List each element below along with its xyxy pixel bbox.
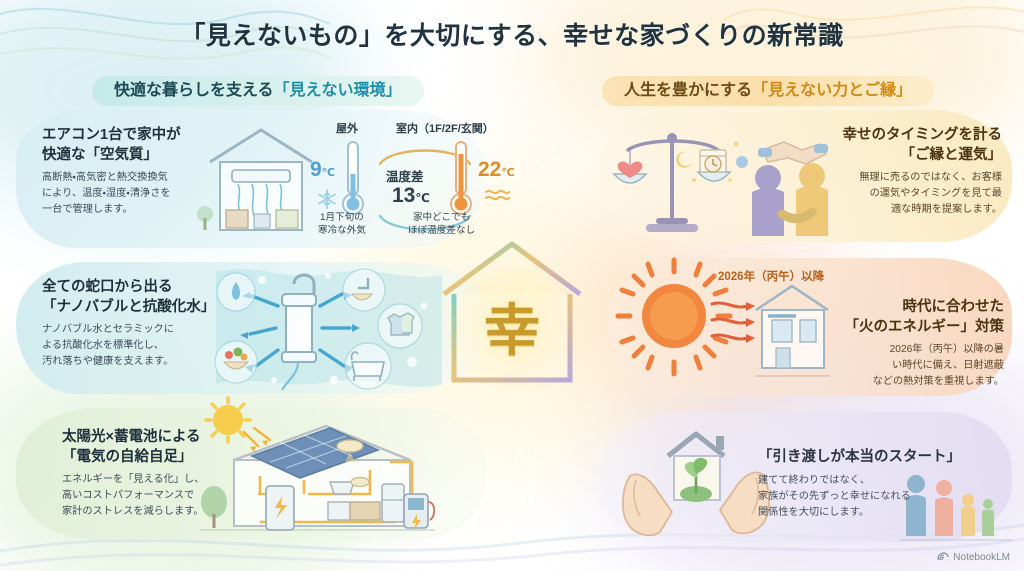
- outdoor-temp-value: 9: [310, 158, 322, 181]
- outdoor-caption: 1月下旬の 寒冷な外気: [318, 212, 366, 238]
- card-heat-heading-1: 時代に合わせた: [838, 298, 1004, 318]
- outdoor-temp-unit: ℃: [322, 167, 335, 179]
- indoor-temperature: 22℃: [478, 158, 515, 182]
- card-solar-body-2: 高いコストパフォーマンスで: [62, 488, 204, 503]
- indoor-temp-value: 22: [478, 158, 501, 181]
- card-air-quality-heading-2: 快適な「空気質」: [42, 146, 181, 166]
- card-handover-body-1: 建てて終わりではなく、: [758, 473, 980, 488]
- thermometer-hot-icon: [448, 140, 474, 218]
- diff-unit: ℃: [415, 191, 430, 205]
- card-water-body-1: ナノバブル水とセラミックに: [42, 322, 215, 337]
- section-pill-left: 快適な暮らしを支える「見えない環境」: [92, 76, 424, 106]
- card-water-body-2: よる抗酸化水を標準化し、: [42, 338, 215, 353]
- outdoor-label: 屋外: [336, 120, 358, 136]
- hands-sprout-icon: [612, 420, 780, 542]
- card-water-heading-2: 「ナノバブルと抗酸化水」: [42, 298, 215, 318]
- card-water-heading-1: 全ての蛇口から出る: [42, 278, 215, 298]
- card-water-text: 全ての蛇口から出る 「ナノバブルと抗酸化水」 ナノバブル水とセラミックに よる抗…: [42, 278, 215, 369]
- card-handover-body-2: 家族がその先ずっと幸せになれる: [758, 489, 980, 504]
- card-air-quality-body-3: 一台で管理します。: [42, 202, 181, 217]
- outdoor-temperature: 9℃: [310, 158, 335, 182]
- indoor-label: 室内（1F/2F/玄関）: [396, 120, 494, 136]
- section-pill-right: 人生を豊かにする「見えない力とご縁」: [602, 76, 934, 106]
- heat-waves-icon: [482, 188, 512, 206]
- notebooklm-watermark: NotebookLM: [937, 551, 1010, 563]
- card-heat-heading-2: 「火のエネルギー」対策: [838, 318, 1004, 338]
- section-pill-right-prefix: 人生を豊かにする: [624, 82, 752, 99]
- card-fortune-body-3: 適な時期を提案します。: [838, 202, 1002, 217]
- house-aircon-icon: [196, 118, 326, 243]
- card-fortune-body-2: の運気やタイミングを見て最: [838, 186, 1002, 201]
- card-solar-heading-2: 「電気の自給自足」: [62, 448, 204, 468]
- card-heat-body-3: などの熱対策を重視します。: [838, 374, 1004, 389]
- indoor-caption-2: ほぼ温度差なし: [408, 225, 475, 238]
- indoor-caption: 家中どこでも ほぼ温度差なし: [408, 212, 475, 238]
- card-solar-body-3: 家計のストレスを減らします。: [62, 504, 204, 519]
- temperature-difference-value: 13℃: [392, 184, 430, 208]
- solar-battery-icon: [200, 398, 435, 543]
- notebooklm-logo-icon: [937, 551, 949, 563]
- page-title: 「見えないもの」を大切にする、幸せな家づくりの新常識: [0, 16, 1024, 52]
- kanji-happiness: 幸: [432, 286, 592, 367]
- card-fortune-heading-2: 「ご縁と運気」: [838, 146, 1002, 166]
- card-fortune-text: 幸せのタイミングを計る 「ご縁と運気」 無理に売るのではなく、お客様 の運気やタ…: [838, 126, 1002, 217]
- outdoor-caption-2: 寒冷な外気: [318, 225, 366, 238]
- section-pill-left-prefix: 快適な暮らしを支える: [114, 82, 274, 99]
- card-air-quality-body-2: により、温度・湿度・清浄さを: [42, 186, 181, 201]
- infographic-canvas: 「見えないもの」を大切にする、幸せな家づくりの新常識 快適な暮らしを支える「見え…: [0, 0, 1024, 571]
- card-air-quality-body-1: 高断熱・高気密と熱交換換気: [42, 170, 181, 185]
- card-fortune-body-1: 無理に売るのではなく、お客様: [838, 170, 1002, 185]
- card-handover-text: 「引き渡しが本当のスタート」 建てて終わりではなく、 家族がその先ずっと幸せにな…: [758, 448, 980, 520]
- notebooklm-watermark-label: NotebookLM: [953, 552, 1010, 563]
- card-heat-body-2: い時代に備え、日射遮蔽: [838, 358, 1004, 373]
- card-air-quality-text: エアコン1台で家中が 快適な「空気質」 高断熱・高気密と熱交換換気 により、温度…: [42, 126, 181, 217]
- temperature-difference-label: 温度差: [386, 166, 424, 185]
- scales-handshake-icon: [610, 122, 834, 240]
- card-handover-heading-1: 「引き渡しが本当のスタート」: [758, 448, 980, 468]
- card-water-body-3: 汚れ落ちや健康を支えます。: [42, 354, 215, 369]
- section-pill-left-highlight: 「見えない環境」: [274, 82, 402, 99]
- card-solar-text: 太陽光×蓄電池による 「電気の自給自足」 エネルギーを「見える化」し、 高いコス…: [62, 428, 204, 519]
- card-air-quality-heading-1: エアコン1台で家中が: [42, 126, 181, 146]
- water-filter-icon: [216, 262, 442, 394]
- card-solar-heading-1: 太陽光×蓄電池による: [62, 428, 204, 448]
- card-heat-body-1: 2026年（丙午）以降の暑: [838, 342, 1004, 357]
- year-tag-2026: 2026年（丙午）以降: [718, 268, 824, 284]
- card-handover-body-3: 関係性を大切にします。: [758, 505, 980, 520]
- indoor-caption-1: 家中どこでも: [408, 212, 475, 225]
- center-house-symbol: 幸: [432, 238, 592, 388]
- card-solar-body-1: エネルギーを「見える化」し、: [62, 472, 204, 487]
- thermometer-cold-icon: [340, 140, 366, 218]
- diff-number: 13: [392, 184, 415, 207]
- outdoor-caption-1: 1月下旬の: [318, 212, 366, 225]
- card-fortune-heading-1: 幸せのタイミングを計る: [838, 126, 1002, 146]
- indoor-temp-unit: ℃: [501, 167, 514, 179]
- card-heat-text: 時代に合わせた 「火のエネルギー」対策 2026年（丙午）以降の暑 い時代に備え…: [838, 298, 1004, 389]
- section-pill-right-highlight: 「見えない力とご縁」: [752, 82, 912, 99]
- snowflake-icon: [316, 188, 338, 210]
